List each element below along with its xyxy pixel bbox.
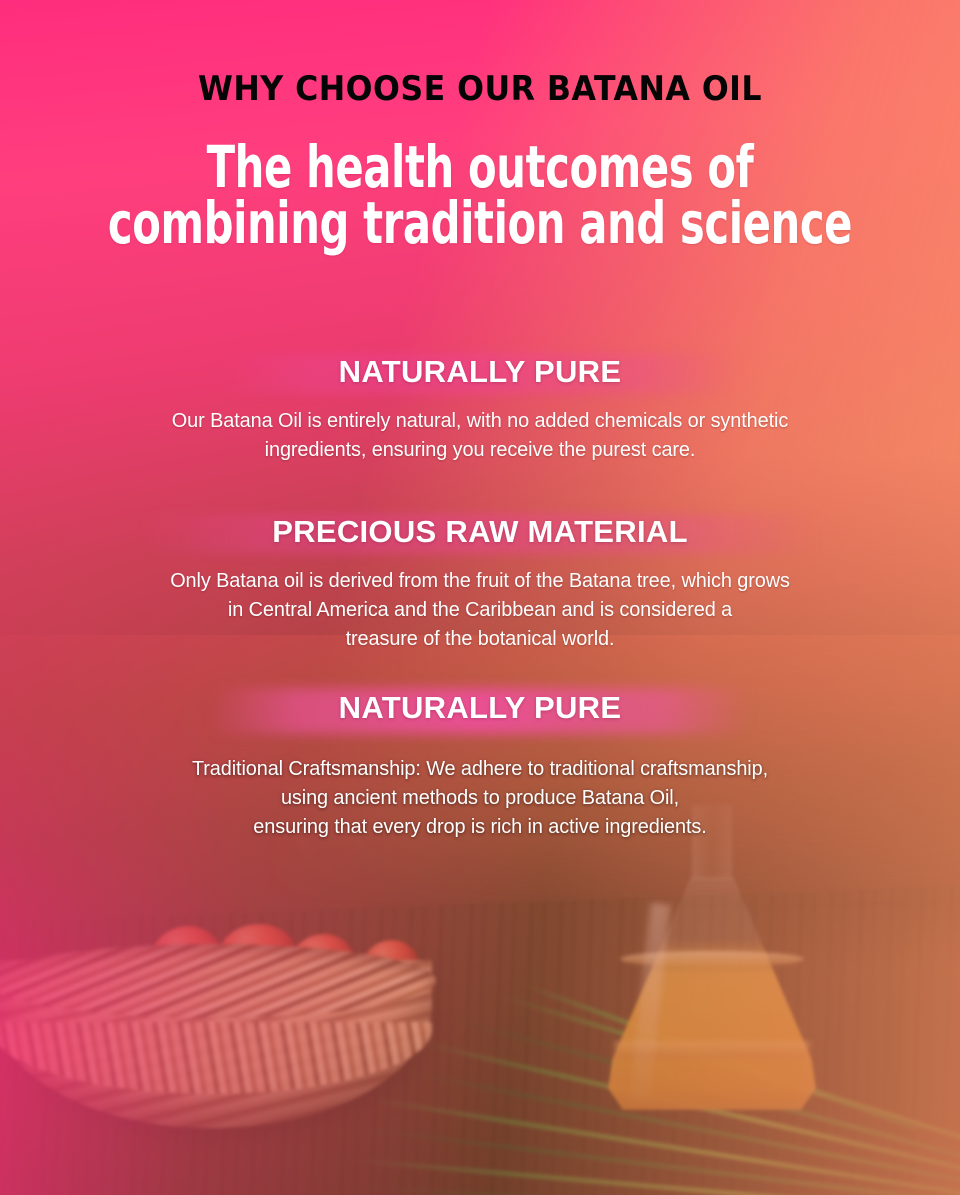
batana-oil-promo-poster: WHY CHOOSE OUR BATANA OIL The health out… [0, 0, 960, 1195]
body-line: Our Batana Oil is entirely natural, with… [14, 406, 945, 435]
page-title-line-2: combining tradition and science [96, 196, 864, 252]
section-title-wrap: NATURALLY PURE [0, 352, 960, 396]
section-body: Our Batana Oil is entirely natural, with… [14, 406, 945, 464]
body-line: Traditional Craftsmanship: We adhere to … [14, 754, 945, 783]
section-title-wrap: NATURALLY PURE [0, 688, 960, 732]
section-title: PRECIOUS RAW MATERIAL [0, 512, 960, 552]
page-title-line-1: The health outcomes of [96, 140, 864, 196]
body-line: treasure of the botanical world. [14, 624, 945, 653]
section-title-wrap: PRECIOUS RAW MATERIAL [0, 512, 960, 556]
section-title: NATURALLY PURE [0, 352, 960, 392]
body-line: in Central America and the Caribbean and… [14, 595, 945, 624]
body-line: Only Batana oil is derived from the frui… [14, 566, 945, 595]
section-body: Only Batana oil is derived from the frui… [14, 566, 945, 653]
poster-content: WHY CHOOSE OUR BATANA OIL The health out… [0, 0, 960, 1195]
body-line: ensuring that every drop is rich in acti… [14, 812, 945, 841]
body-line: using ancient methods to produce Batana … [14, 783, 945, 812]
page-title: The health outcomes of combining traditi… [96, 140, 864, 251]
body-line: ingredients, ensuring you receive the pu… [14, 435, 945, 464]
benefit-section-precious-raw-material: PRECIOUS RAW MATERIAL Only Batana oil is… [0, 512, 960, 653]
section-body: Traditional Craftsmanship: We adhere to … [14, 754, 945, 841]
benefit-section-naturally-pure-1: NATURALLY PURE Our Batana Oil is entirel… [0, 352, 960, 464]
section-title: NATURALLY PURE [0, 688, 960, 728]
eyebrow-heading: WHY CHOOSE OUR BATANA OIL [34, 72, 927, 106]
benefit-section-naturally-pure-2: NATURALLY PURE Traditional Craftsmanship… [0, 688, 960, 841]
